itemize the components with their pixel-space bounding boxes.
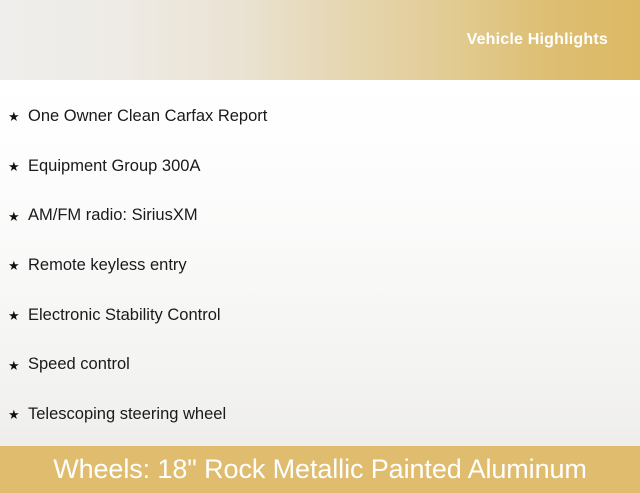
star-bullet-icon: ★	[8, 160, 28, 173]
footer-caption: Wheels: 18" Rock Metallic Painted Alumin…	[53, 456, 587, 483]
star-bullet-icon: ★	[8, 359, 28, 372]
star-bullet-icon: ★	[8, 210, 28, 223]
star-bullet-icon: ★	[8, 309, 28, 322]
list-item: ★ Telescoping steering wheel	[0, 390, 640, 440]
list-item-label: Electronic Stability Control	[28, 306, 221, 326]
star-bullet-icon: ★	[8, 110, 28, 123]
list-item-label: AM/FM radio: SiriusXM	[28, 206, 198, 226]
star-bullet-icon: ★	[8, 259, 28, 272]
list-item-label: Equipment Group 300A	[28, 157, 200, 177]
footer-bar: Wheels: 18" Rock Metallic Painted Alumin…	[0, 446, 640, 493]
list-item-label: Telescoping steering wheel	[28, 405, 226, 425]
panel-title: Vehicle Highlights	[467, 31, 640, 49]
panel-header: Vehicle Highlights	[0, 0, 640, 80]
list-item: ★ One Owner Clean Carfax Report	[0, 92, 640, 142]
highlights-list: ★ One Owner Clean Carfax Report ★ Equipm…	[0, 80, 640, 446]
star-bullet-icon: ★	[8, 408, 28, 421]
vehicle-highlights-panel: Vehicle Highlights ★ One Owner Clean Car…	[0, 0, 640, 480]
list-item-label: One Owner Clean Carfax Report	[28, 107, 267, 127]
list-item: ★ Equipment Group 300A	[0, 142, 640, 192]
list-item-label: Speed control	[28, 355, 130, 375]
list-item-label: Remote keyless entry	[28, 256, 187, 276]
list-item: ★ Remote keyless entry	[0, 241, 640, 291]
list-item: ★ Speed control	[0, 340, 640, 390]
list-item: ★ AM/FM radio: SiriusXM	[0, 191, 640, 241]
list-item: ★ Electronic Stability Control	[0, 291, 640, 341]
